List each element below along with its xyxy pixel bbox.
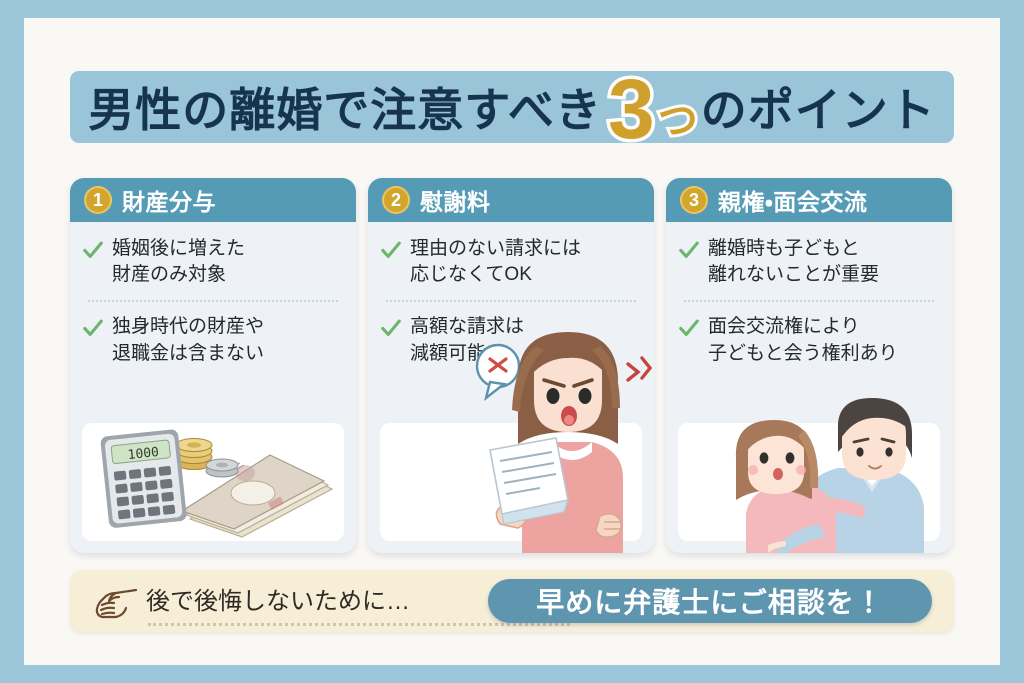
check-icon <box>678 239 700 261</box>
points-card-list: 1 財産分与 婚姻後に増えた 財産のみ対象 独身時代の財産や 退職金は含まない <box>70 178 954 553</box>
card-bullets-3: 離婚時も子どもと 離れないことが重要 面会交流権により 子どもと会う権利あり <box>666 222 952 367</box>
bullet-divider <box>386 300 636 302</box>
bullet-text: 理由のない請求には 応じなくてOK <box>410 236 581 288</box>
check-icon <box>82 239 104 261</box>
card-header-3: 3 親権・面会交流 <box>666 178 952 222</box>
bullet-item: 理由のない請求には 応じなくてOK <box>380 236 642 288</box>
title-lead: 男性の離婚で注意すべき <box>88 74 602 140</box>
point-card-1[interactable]: 1 財産分与 婚姻後に増えた 財産のみ対象 独身時代の財産や 退職金は含まない <box>70 178 356 553</box>
consult-lawyer-button[interactable]: 早めに弁護士にご相談を！ <box>488 579 932 623</box>
bullet-item: 高額な請求は 減額可能 <box>380 314 642 366</box>
bullet-text: 離婚時も子どもと 離れないことが重要 <box>708 236 879 288</box>
card-title-1: 財産分与 <box>122 183 216 217</box>
check-icon <box>678 317 700 339</box>
bullet-text: 面会交流権により 子どもと会う権利あり <box>708 314 898 366</box>
infographic-frame: 男性の離婚で注意すべき 3 つ のポイント 1 財産分与 婚姻後に増えた 財産の… <box>24 18 1000 665</box>
bullet-divider <box>684 300 934 302</box>
check-icon <box>82 317 104 339</box>
card-header-1: 1 財産分与 <box>70 178 356 222</box>
bullet-item: 婚姻後に増えた 財産のみ対象 <box>82 236 344 288</box>
card-illustration-2 <box>380 423 642 541</box>
pointing-hand-icon <box>92 581 138 621</box>
title-banner: 男性の離婚で注意すべき 3 つ のポイント <box>70 53 954 158</box>
bullet-text: 婚姻後に増えた 財産のみ対象 <box>112 236 245 288</box>
footer-cta-bar: 後で後悔しないために… 早めに弁護士にご相談を！ <box>70 570 954 632</box>
card-header-2: 2 慰謝料 <box>368 178 654 222</box>
card-number-badge-2: 2 <box>382 186 410 214</box>
card-number-badge-1: 1 <box>84 186 112 214</box>
page-title: 男性の離婚で注意すべき 3 つ のポイント <box>70 71 954 143</box>
card-number-badge-3: 3 <box>680 186 708 214</box>
card-bullets-2: 理由のない請求には 応じなくてOK 高額な請求は 減額可能 <box>368 222 654 367</box>
footer-note: 後で後悔しないために… <box>146 581 410 622</box>
bullet-item: 独身時代の財産や 退職金は含まない <box>82 314 344 366</box>
bullet-item: 面会交流権により 子どもと会う権利あり <box>678 314 940 366</box>
card-bullets-1: 婚姻後に増えた 財産のみ対象 独身時代の財産や 退職金は含まない <box>70 222 356 367</box>
point-card-2[interactable]: 2 慰謝料 理由のない請求には 応じなくてOK 高額な請求は 減額可能 <box>368 178 654 553</box>
bullet-text: 高額な請求は 減額可能 <box>410 314 524 366</box>
title-tail: のポイント <box>701 74 936 140</box>
bullet-text: 独身時代の財産や 退職金は含まない <box>112 314 264 366</box>
check-icon <box>380 317 402 339</box>
point-card-3[interactable]: 3 親権・面会交流 離婚時も子どもと 離れないことが重要 面会交流権により 子ど… <box>666 178 952 553</box>
bullet-item: 離婚時も子どもと 離れないことが重要 <box>678 236 940 288</box>
card-illustration-1: 1000 <box>82 423 344 541</box>
check-icon <box>380 239 402 261</box>
bullet-divider <box>88 300 338 302</box>
card-title-3: 親権・面会交流 <box>718 183 867 217</box>
card-title-2: 慰謝料 <box>420 183 491 217</box>
calculator-coins-banknotes-illustration: 1000 <box>82 423 344 541</box>
card-illustration-3 <box>678 423 940 541</box>
